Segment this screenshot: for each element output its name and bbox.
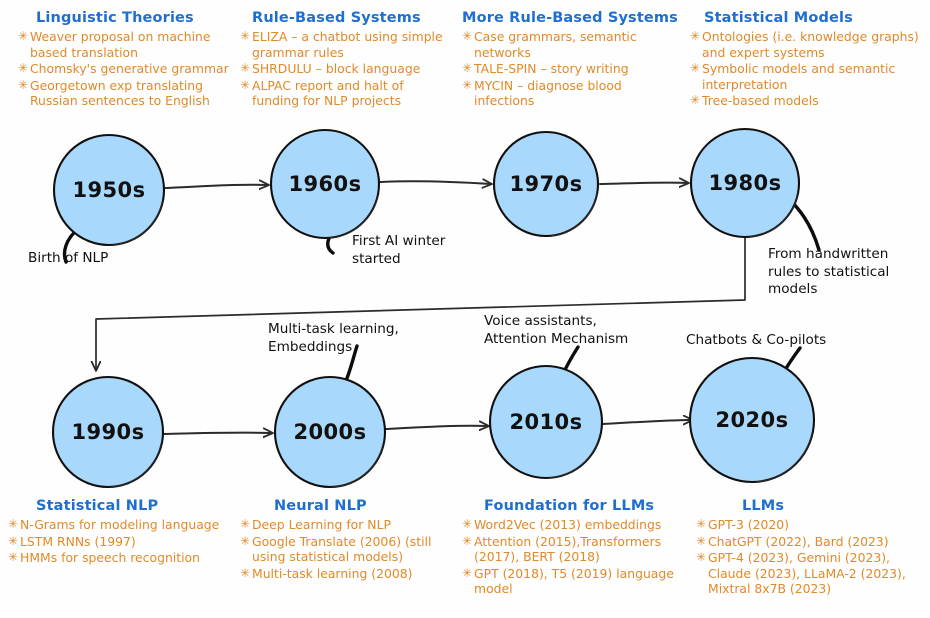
list-item-text: Google Translate (2006) (still using sta… — [252, 534, 431, 565]
list-item-text: LSTM RNNs (1997) — [20, 534, 136, 549]
list-item-text: HMMs for speech recognition — [20, 550, 200, 565]
node-1990s[interactable]: 1990s — [53, 377, 163, 487]
list-item: ✳ELIZA – a chatbot using simple grammar … — [240, 29, 452, 60]
node-label-2000s: 2000s — [294, 420, 367, 444]
list-item-text: Deep Learning for NLP — [252, 517, 391, 532]
node-label-1970s: 1970s — [510, 172, 583, 196]
info-block-statistical-models: Statistical Models ✳Ontologies (i.e. kno… — [690, 10, 922, 110]
list-item-text: SHRDULU – block language — [252, 61, 420, 76]
node-label-2020s: 2020s — [716, 408, 789, 432]
bullet-star-icon: ✳ — [462, 517, 472, 533]
block-heading: Rule-Based Systems — [252, 10, 452, 26]
annotation-first-ai-winter: First AI winter started — [352, 233, 445, 268]
list-item: ✳SHRDULU – block language — [240, 61, 452, 77]
info-block-llms: LLMs ✳GPT-3 (2020) ✳ChatGPT (2022), Bard… — [686, 498, 926, 598]
list-item: ✳Word2Vec (2013) embeddings — [462, 517, 690, 533]
bullet-star-icon: ✳ — [462, 566, 472, 582]
bullet-list: ✳N-Grams for modeling language ✳LSTM RNN… — [8, 517, 228, 566]
bullet-star-icon: ✳ — [8, 550, 18, 566]
list-item: ✳Multi-task learning (2008) — [240, 566, 462, 582]
bullet-list: ✳Deep Learning for NLP ✳Google Translate… — [240, 517, 462, 581]
list-item: ✳GPT-4 (2023), Gemini (2023), Claude (20… — [686, 550, 926, 597]
list-item-text: Case grammars, semantic networks — [474, 29, 637, 60]
info-block-more-rule-based-systems: More Rule-Based Systems ✳Case grammars, … — [462, 10, 684, 110]
list-item: ✳Chomsky's generative grammar — [18, 61, 230, 77]
node-1980s[interactable]: 1980s — [691, 129, 799, 237]
connector-1960s-1970s — [380, 181, 491, 184]
bullet-star-icon: ✳ — [240, 534, 250, 550]
info-block-statistical-nlp: Statistical NLP ✳N-Grams for modeling la… — [8, 498, 228, 567]
node-1960s[interactable]: 1960s — [271, 130, 379, 238]
bullet-star-icon: ✳ — [696, 517, 706, 533]
list-item: ✳TALE-SPIN – story writing — [462, 61, 684, 77]
annotation-handwritten-to-statistical: From handwritten rules to statistical mo… — [768, 246, 928, 299]
connector-2000s-2010s — [386, 426, 488, 429]
list-item: ✳HMMs for speech recognition — [8, 550, 228, 566]
list-item: ✳ChatGPT (2022), Bard (2023) — [686, 534, 926, 550]
block-heading: LLMs — [742, 498, 926, 514]
bullet-list: ✳Word2Vec (2013) embeddings ✳Attention (… — [462, 517, 690, 597]
bullet-list: ✳GPT-3 (2020) ✳ChatGPT (2022), Bard (202… — [686, 517, 926, 597]
bullet-star-icon: ✳ — [18, 29, 28, 45]
list-item: ✳LSTM RNNs (1997) — [8, 534, 228, 550]
node-label-1990s: 1990s — [72, 420, 145, 444]
annotation-chatbots-copilots: Chatbots & Co-pilots — [686, 332, 826, 350]
list-item-text: TALE-SPIN – story writing — [474, 61, 629, 76]
list-item-text: Chomsky's generative grammar — [30, 61, 229, 76]
connector-1950s-1960s — [165, 185, 268, 188]
list-item: ✳Ontologies (i.e. knowledge graphs) and … — [690, 29, 922, 60]
connector-1970s-1980s — [600, 183, 688, 184]
block-heading: Statistical Models — [704, 10, 922, 26]
annotation-multi-task-learning: Multi-task learning, Embeddings — [268, 321, 399, 356]
list-item-text: Ontologies (i.e. knowledge graphs) and e… — [702, 29, 919, 60]
node-label-1950s: 1950s — [73, 178, 146, 202]
bullet-list: ✳Case grammars, semantic networks ✳TALE-… — [462, 29, 684, 109]
bullet-star-icon: ✳ — [462, 78, 472, 94]
list-item: ✳Weaver proposal on machine based transl… — [18, 29, 230, 60]
bullet-star-icon: ✳ — [462, 29, 472, 45]
node-1950s[interactable]: 1950s — [54, 135, 164, 245]
list-item: ✳Google Translate (2006) (still using st… — [240, 534, 462, 565]
connector-1990s-2000s — [164, 433, 272, 434]
annotation-birth-of-nlp: Birth of NLP — [28, 250, 108, 268]
nlp-timeline-diagram: 1950s 1960s 1970s 1980s 1990s 2000s — [0, 0, 930, 618]
block-heading: Foundation for LLMs — [484, 498, 690, 514]
list-item-text: Multi-task learning (2008) — [252, 566, 412, 581]
list-item: ✳Symbolic models and semantic interpreta… — [690, 61, 922, 92]
list-item: ✳MYCIN – diagnose blood infections — [462, 78, 684, 109]
bullet-star-icon: ✳ — [240, 61, 250, 77]
info-block-linguistic-theories: Linguistic Theories ✳Weaver proposal on … — [18, 10, 230, 110]
node-label-1960s: 1960s — [289, 172, 362, 196]
list-item: ✳N-Grams for modeling language — [8, 517, 228, 533]
bullet-star-icon: ✳ — [696, 550, 706, 566]
info-block-foundation-for-llms: Foundation for LLMs ✳Word2Vec (2013) emb… — [462, 498, 690, 598]
block-heading: Statistical NLP — [36, 498, 228, 514]
list-item-text: N-Grams for modeling language — [20, 517, 219, 532]
annotation-voice-assistants: Voice assistants, Attention Mechanism — [484, 313, 628, 348]
list-item: ✳Attention (2015),Transformers (2017), B… — [462, 534, 690, 565]
list-item: ✳Georgetown exp translating Russian sent… — [18, 78, 230, 109]
list-item-text: ALPAC report and halt of funding for NLP… — [252, 78, 404, 109]
bullet-star-icon: ✳ — [462, 61, 472, 77]
bullet-star-icon: ✳ — [690, 61, 700, 77]
list-item: ✳Case grammars, semantic networks — [462, 29, 684, 60]
list-item: ✳GPT-3 (2020) — [686, 517, 926, 533]
bullet-star-icon: ✳ — [696, 534, 706, 550]
node-label-1980s: 1980s — [709, 171, 782, 195]
bullet-list: ✳Weaver proposal on machine based transl… — [18, 29, 230, 109]
bullet-star-icon: ✳ — [240, 78, 250, 94]
list-item-text: GPT-3 (2020) — [708, 517, 789, 532]
bullet-list: ✳Ontologies (i.e. knowledge graphs) and … — [690, 29, 922, 109]
list-item-text: GPT-4 (2023), Gemini (2023), Claude (202… — [708, 550, 906, 596]
node-2010s[interactable]: 2010s — [490, 366, 602, 478]
bullet-star-icon: ✳ — [8, 517, 18, 533]
list-item-text: MYCIN – diagnose blood infections — [474, 78, 622, 109]
bullet-star-icon: ✳ — [462, 534, 472, 550]
list-item-text: GPT (2018), T5 (2019) language model — [474, 566, 674, 597]
block-heading: More Rule-Based Systems — [462, 10, 684, 26]
list-item-text: Attention (2015),Transformers (2017), BE… — [474, 534, 661, 565]
list-item-text: Word2Vec (2013) embeddings — [474, 517, 661, 532]
list-item-text: Tree-based models — [702, 93, 819, 108]
list-item-text: Weaver proposal on machine based transla… — [30, 29, 211, 60]
list-item-text: Symbolic models and semantic interpretat… — [702, 61, 895, 92]
node-1970s[interactable]: 1970s — [494, 132, 598, 236]
bullet-star-icon: ✳ — [240, 29, 250, 45]
bullet-star-icon: ✳ — [240, 517, 250, 533]
bullet-star-icon: ✳ — [18, 61, 28, 77]
bullet-star-icon: ✳ — [240, 566, 250, 582]
bullet-star-icon: ✳ — [8, 534, 18, 550]
node-2000s[interactable]: 2000s — [275, 377, 385, 487]
connector-2010s-2020s — [603, 420, 692, 424]
block-heading: Neural NLP — [274, 498, 462, 514]
node-2020s[interactable]: 2020s — [690, 358, 814, 482]
bullet-star-icon: ✳ — [18, 78, 28, 94]
bullet-star-icon: ✳ — [690, 93, 700, 109]
node-label-2010s: 2010s — [510, 410, 583, 434]
info-block-neural-nlp: Neural NLP ✳Deep Learning for NLP ✳Googl… — [240, 498, 462, 582]
list-item-text: ChatGPT (2022), Bard (2023) — [708, 534, 889, 549]
list-item: ✳GPT (2018), T5 (2019) language model — [462, 566, 690, 597]
list-item: ✳Deep Learning for NLP — [240, 517, 462, 533]
list-item: ✳ALPAC report and halt of funding for NL… — [240, 78, 452, 109]
block-heading: Linguistic Theories — [36, 10, 230, 26]
list-item-text: Georgetown exp translating Russian sente… — [30, 78, 210, 109]
bullet-star-icon: ✳ — [690, 29, 700, 45]
info-block-rule-based-systems: Rule-Based Systems ✳ELIZA – a chatbot us… — [240, 10, 452, 110]
bullet-list: ✳ELIZA – a chatbot using simple grammar … — [240, 29, 452, 109]
list-item-text: ELIZA – a chatbot using simple grammar r… — [252, 29, 443, 60]
list-item: ✳Tree-based models — [690, 93, 922, 109]
